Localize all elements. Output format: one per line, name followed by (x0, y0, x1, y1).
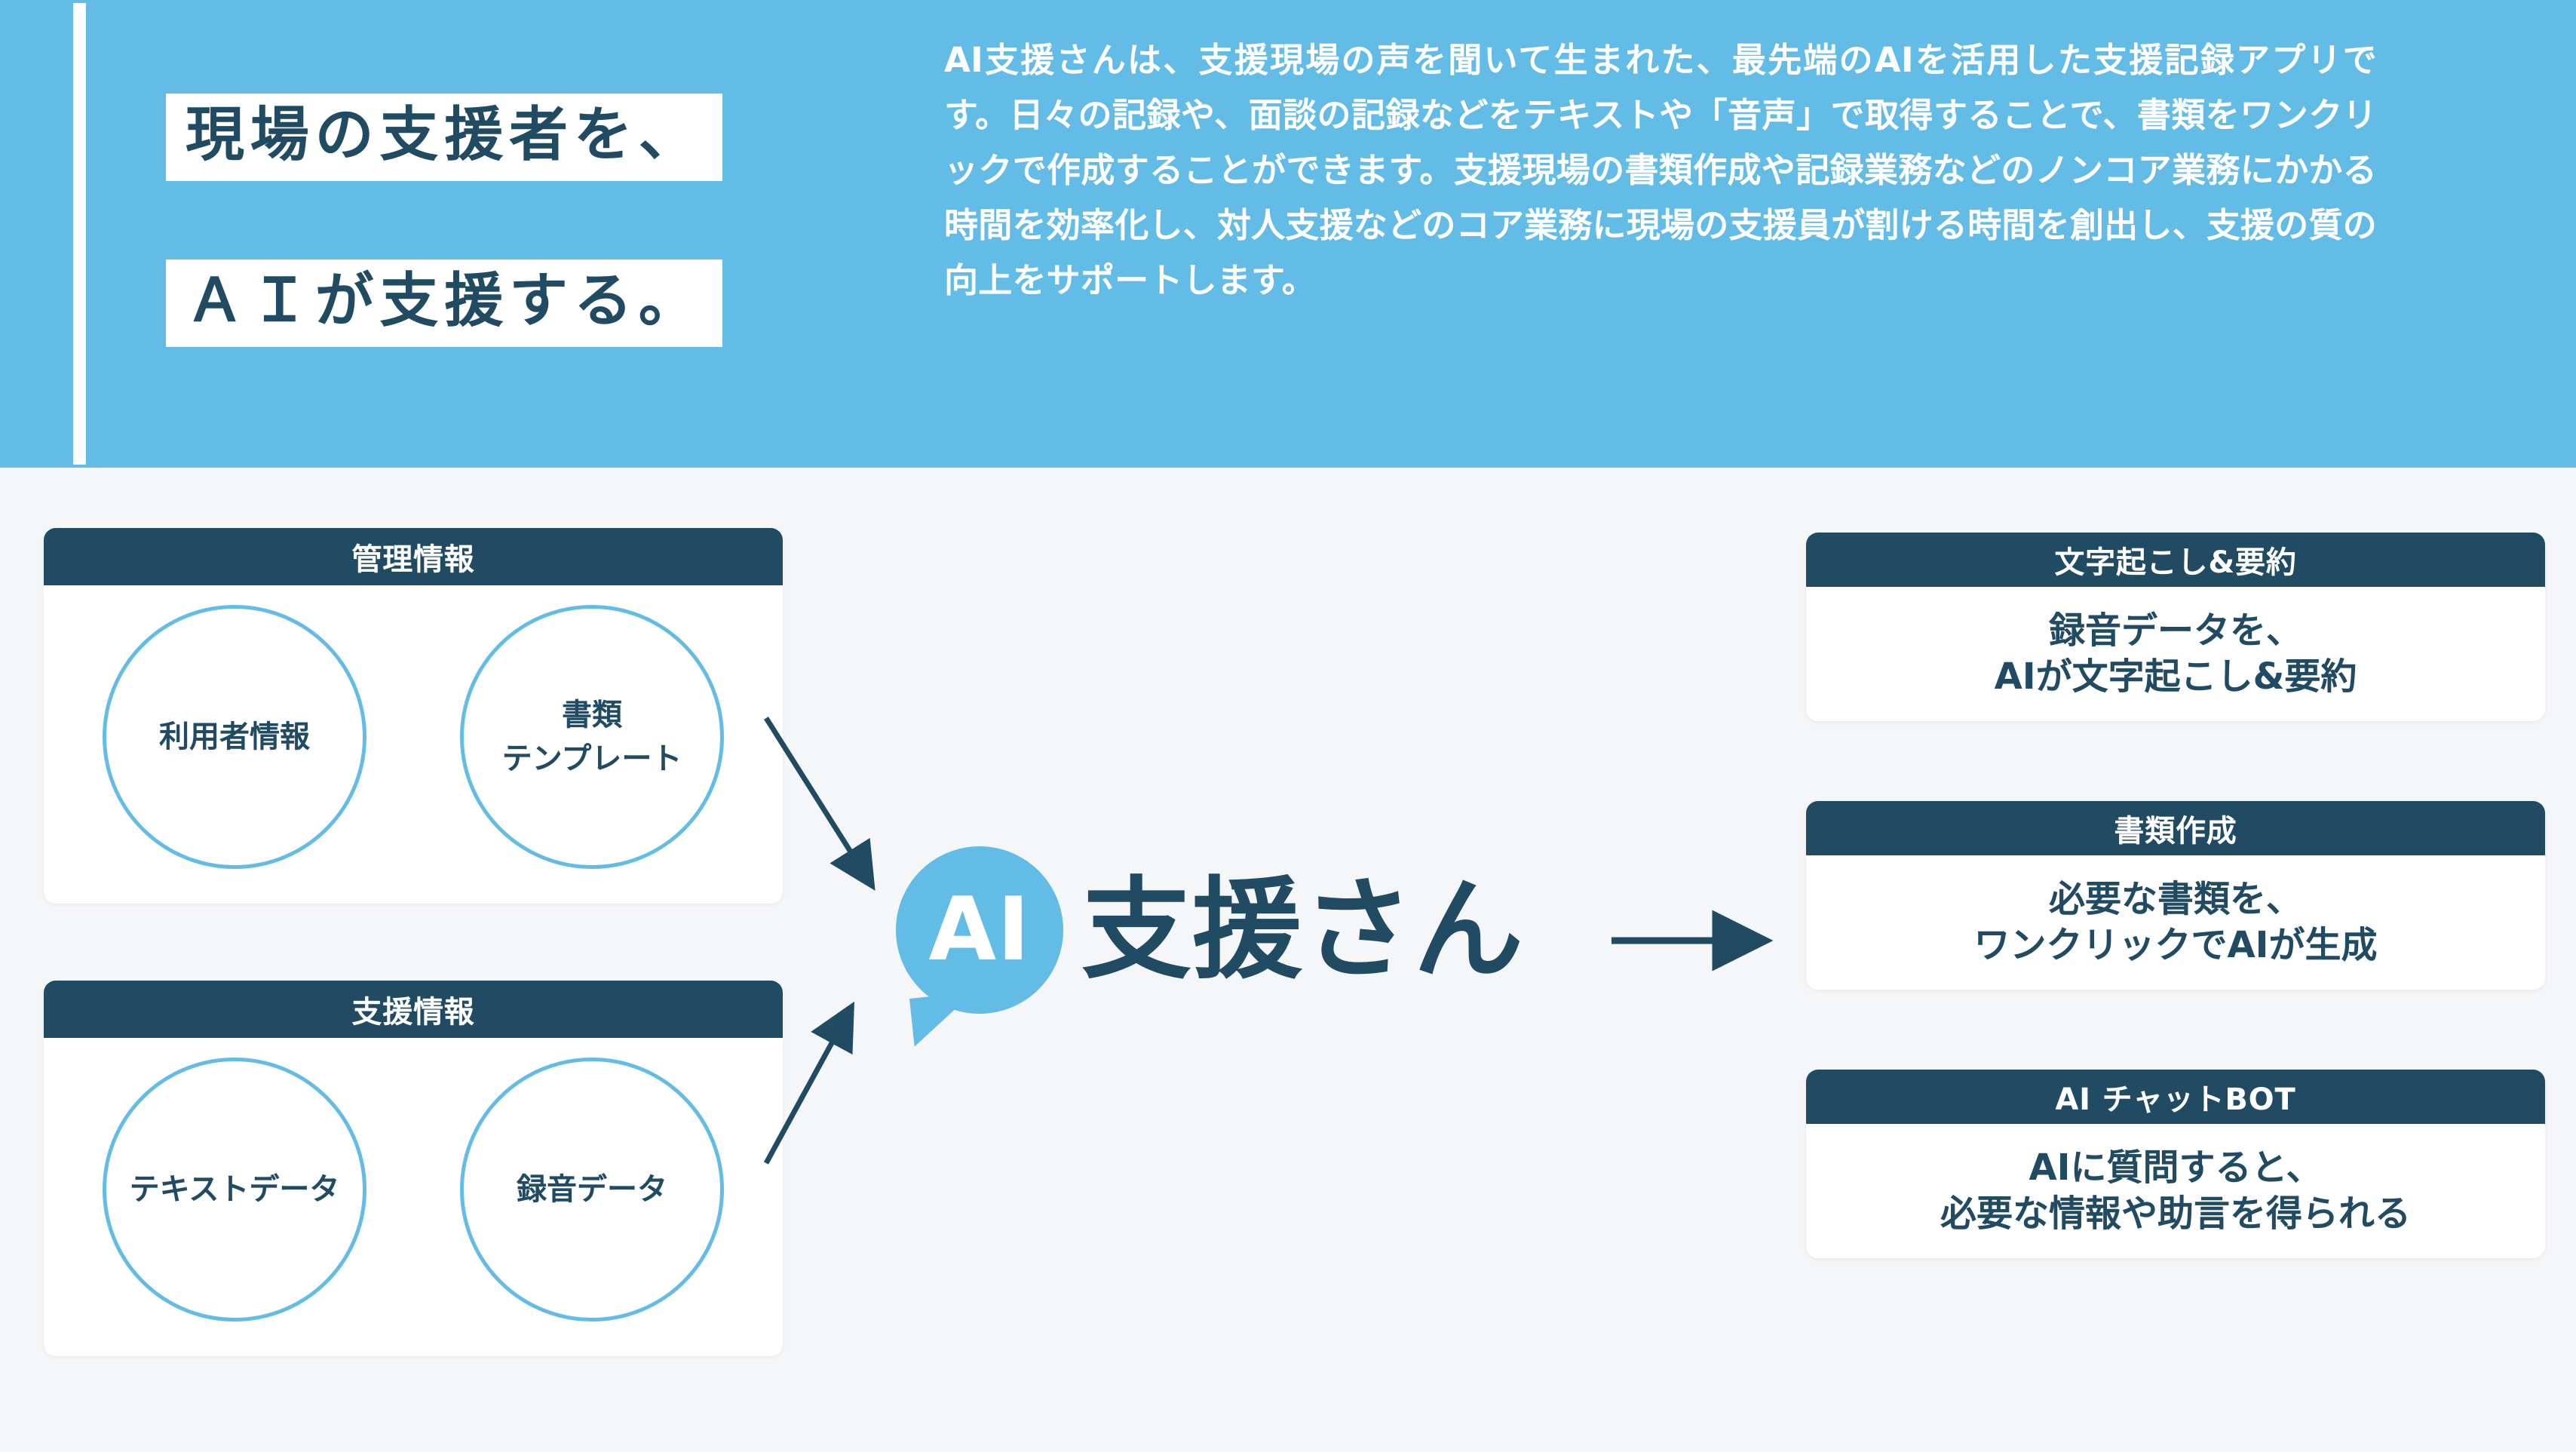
card-header-support: 支援情報 (44, 981, 783, 1038)
output-line-1: 必要な書類を、 (2049, 878, 2302, 920)
card-header-management: 管理情報 (44, 528, 783, 585)
output-line-2: ワンクリックでAIが生成 (1973, 924, 2377, 966)
hero-description: AI支援さんは、支援現場の声を聞いて生まれた、最先端のAIを活用した支援記録アプ… (944, 33, 2377, 308)
output-card-document-creation: 書類作成 必要な書類を、 ワンクリックでAIが生成 (1806, 801, 2545, 990)
speech-bubble-icon: AI (896, 846, 1063, 1014)
hero-banner: 現場の支援者を、 ＡＩが支援する。 AI支援さんは、支援現場の声を聞いて生まれた… (0, 0, 2576, 468)
headline-line-2: ＡＩが支援する。 (166, 259, 722, 347)
ai-shiensan-logo: AI 支援さん (896, 846, 1524, 1014)
output-line-2: AIが文字起こし&要約 (1995, 655, 2357, 698)
input-card-management: 管理情報 利用者情報 書類 テンプレート (44, 528, 783, 904)
circle-label-line1: 録音データ (517, 1172, 667, 1207)
card-header-document-creation: 書類作成 (1806, 801, 2545, 855)
circle-text-data[interactable]: テキストデータ (103, 1058, 366, 1322)
card-header-chatbot: AI チャットBOT (1806, 1070, 2545, 1124)
card-body-chatbot: AIに質問すると、 必要な情報や助言を得られる (1806, 1124, 2545, 1258)
circle-audio-data[interactable]: 録音データ (460, 1058, 724, 1322)
input-card-support: 支援情報 テキストデータ 録音データ (44, 981, 783, 1356)
logo-badge-text: AI (928, 886, 1030, 974)
headline-line-1: 現場の支援者を、 (166, 94, 722, 181)
output-line-1: 録音データを、 (2049, 609, 2302, 652)
hero-vertical-rule (73, 3, 86, 465)
output-card-chatbot: AI チャットBOT AIに質問すると、 必要な情報や助言を得られる (1806, 1070, 2545, 1258)
output-line-1: AIに質問すると、 (2029, 1147, 2322, 1189)
card-body-transcription: 録音データを、 AIが文字起こし&要約 (1806, 587, 2545, 721)
output-card-transcription: 文字起こし&要約 録音データを、 AIが文字起こし&要約 (1806, 533, 2545, 721)
hero-headline-group: 現場の支援者を、 ＡＩが支援する。 (166, 94, 920, 380)
output-line-2: 必要な情報や助言を得られる (1940, 1193, 2411, 1235)
card-body-support: テキストデータ 録音データ (44, 1038, 783, 1356)
circle-label-line1: 利用者情報 (159, 720, 310, 754)
logo-wordmark: 支援さん (1081, 875, 1524, 985)
card-body-management: 利用者情報 書類 テンプレート (44, 585, 783, 904)
card-header-transcription: 文字起こし&要約 (1806, 533, 2545, 587)
card-body-document-creation: 必要な書類を、 ワンクリックでAIが生成 (1806, 855, 2545, 990)
circle-label-line1: テキストデータ (130, 1172, 340, 1207)
circle-label-line1: 書類 (562, 698, 622, 732)
circle-user-info[interactable]: 利用者情報 (103, 605, 366, 869)
circle-label-line2: テンプレート (502, 741, 682, 776)
circle-document-template[interactable]: 書類 テンプレート (460, 605, 724, 869)
